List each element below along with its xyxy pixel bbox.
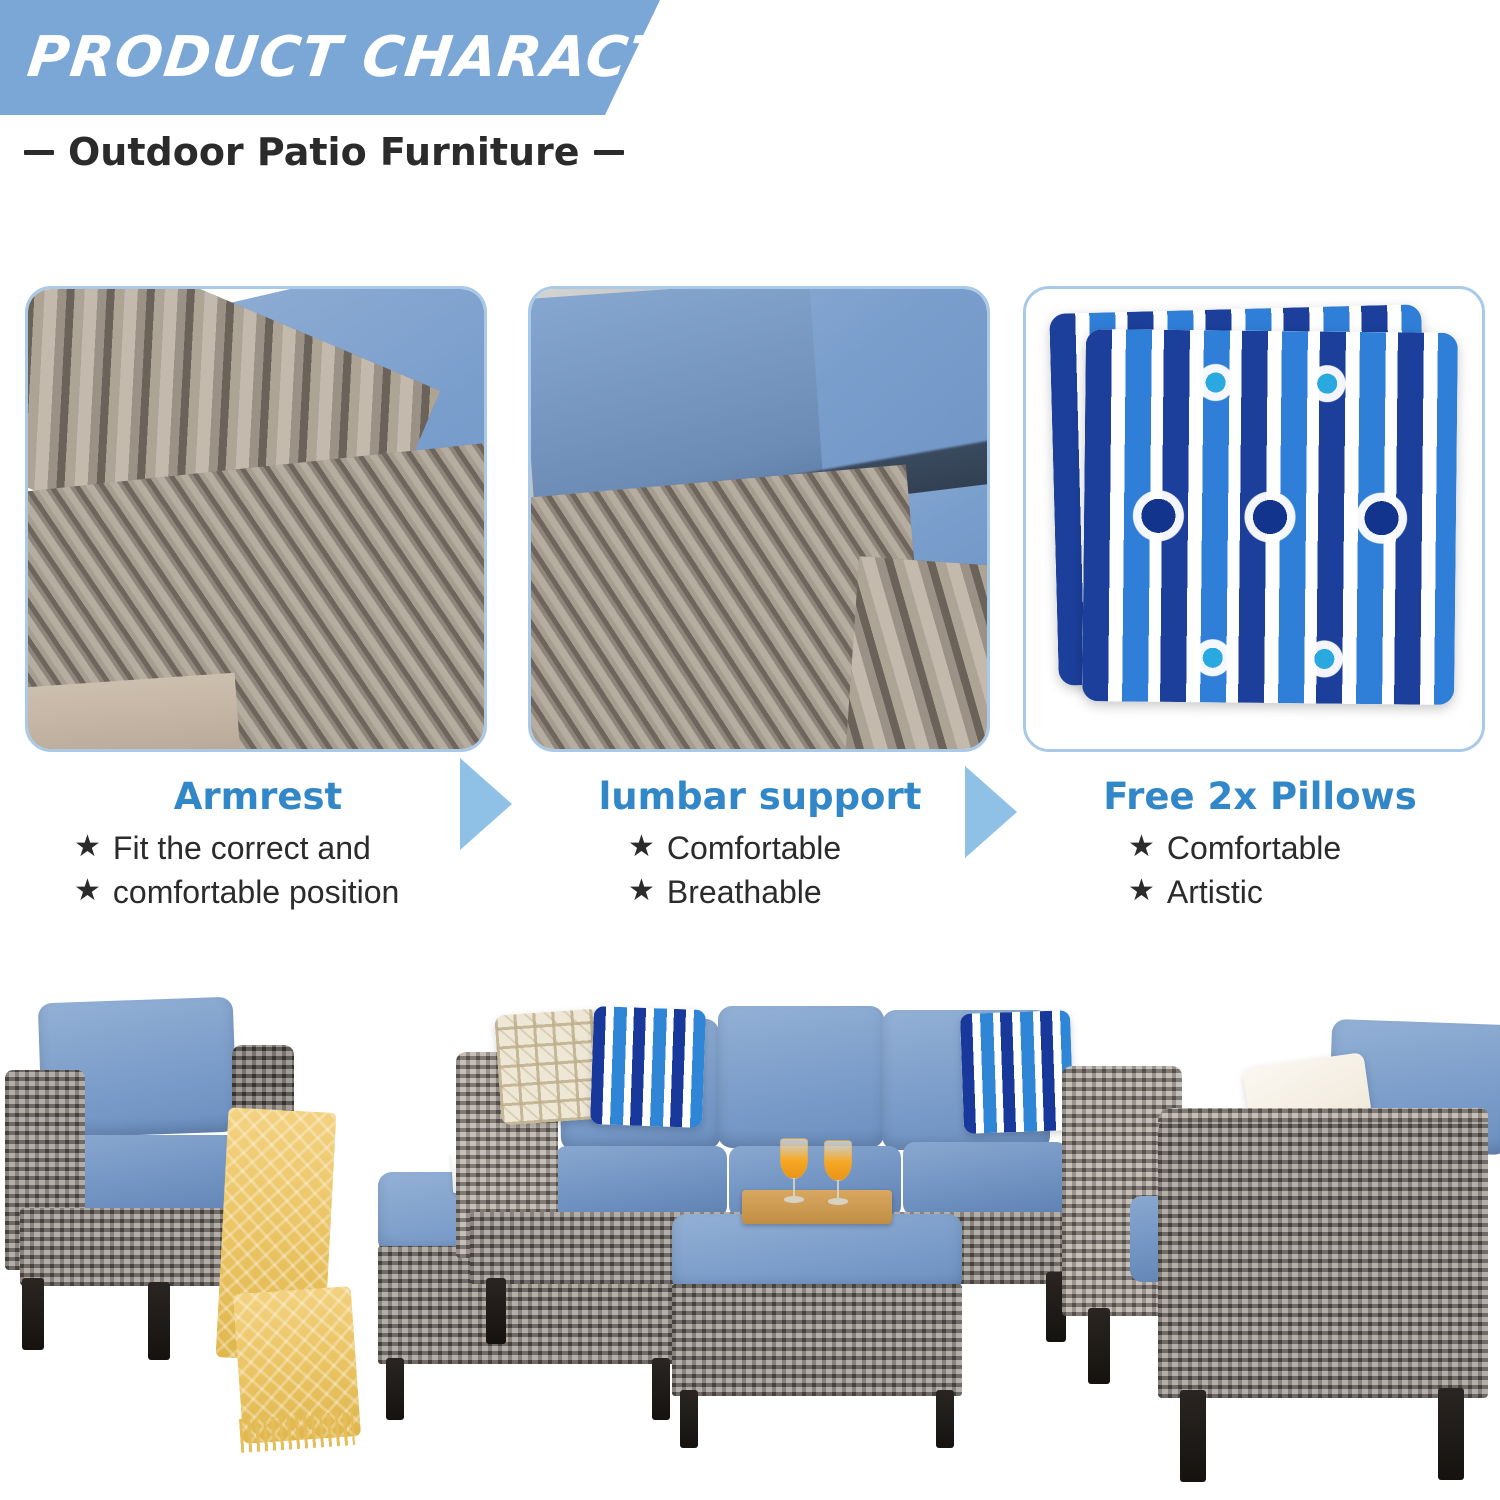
list-item: ★ Comfortable bbox=[628, 829, 1000, 867]
ikat-pattern bbox=[960, 1010, 1074, 1134]
sofa-seat-cushion-left bbox=[555, 1146, 727, 1218]
caption-title-free-pillows: Free 2x Pillows bbox=[1020, 778, 1500, 817]
bullet-list-lumbar-support: ★ Comfortable ★ Breathable bbox=[520, 829, 1000, 912]
list-item: ★ Fit the correct and bbox=[74, 829, 498, 867]
product-infographic-page: PRODUCT CHARACTER Outdoor Patio Furnitur… bbox=[0, 0, 1500, 1500]
list-item: ★ Breathable bbox=[628, 873, 1000, 911]
juice-glass-left bbox=[780, 1138, 808, 1204]
ikat-pillow-right bbox=[960, 1010, 1074, 1134]
right-ottoman-leg-right bbox=[936, 1390, 954, 1448]
bullet-text: Comfortable bbox=[667, 829, 841, 867]
star-icon: ★ bbox=[1128, 829, 1155, 866]
left-armchair-leg-front-right bbox=[148, 1282, 170, 1360]
caption-title-armrest: Armrest bbox=[18, 778, 498, 817]
right-ottoman-leg-left bbox=[680, 1390, 698, 1448]
lumbar-support-photo bbox=[531, 289, 987, 749]
right-ottoman-frame bbox=[672, 1284, 962, 1396]
feature-panels bbox=[0, 286, 1500, 756]
bullet-text: Comfortable bbox=[1167, 829, 1341, 867]
caption-free-pillows: Free 2x Pillows ★ Comfortable ★ Artistic bbox=[1020, 778, 1500, 912]
right-armchair-arm-rim bbox=[1158, 1108, 1488, 1122]
free-pillows-photo bbox=[1026, 289, 1482, 749]
page-subtitle: Outdoor Patio Furniture bbox=[68, 130, 580, 174]
right-armchair-near-arm bbox=[1158, 1108, 1488, 1398]
bullet-text: Artistic bbox=[1167, 873, 1263, 911]
feature-panel-lumbar-support bbox=[528, 286, 990, 752]
sofa-back-cushion-mid bbox=[718, 1006, 884, 1148]
ikat-pillow-front bbox=[1082, 329, 1458, 705]
glass-foot bbox=[784, 1196, 804, 1203]
glass-bowl bbox=[824, 1140, 852, 1181]
list-item: ★ comfortable position bbox=[74, 873, 498, 911]
throw-fringe bbox=[239, 1411, 355, 1453]
dash-left-icon bbox=[24, 150, 54, 155]
wooden-tray bbox=[742, 1190, 892, 1224]
left-ottoman-leg-left bbox=[386, 1358, 404, 1420]
star-icon: ★ bbox=[628, 873, 655, 910]
subtitle-row: Outdoor Patio Furniture bbox=[24, 130, 624, 174]
feature-panel-free-pillows bbox=[1023, 286, 1485, 752]
patio-furniture-set-photo bbox=[0, 960, 1500, 1500]
caption-title-lumbar-support: lumbar support bbox=[520, 778, 1000, 817]
list-item: ★ Comfortable bbox=[1128, 829, 1500, 867]
feature-panel-armrest bbox=[25, 286, 487, 752]
feature-captions: Armrest ★ Fit the correct and ★ comforta… bbox=[0, 778, 1500, 938]
star-icon: ★ bbox=[628, 829, 655, 866]
glass-stem bbox=[837, 1180, 839, 1198]
juice-glass-right bbox=[824, 1140, 852, 1206]
star-icon: ★ bbox=[1128, 873, 1155, 910]
left-armchair-leg-front-left bbox=[22, 1278, 44, 1350]
bullet-text: Fit the correct and bbox=[113, 829, 371, 867]
ikat-diamond-motifs bbox=[1082, 329, 1458, 705]
lumbar-wicker-armrest bbox=[843, 556, 987, 749]
bullet-text: Breathable bbox=[667, 873, 822, 911]
caption-lumbar-support: lumbar support ★ Comfortable ★ Breathabl… bbox=[520, 778, 1000, 912]
bullet-list-free-pillows: ★ Comfortable ★ Artistic bbox=[1020, 829, 1500, 912]
sofa-leg-left bbox=[486, 1278, 506, 1344]
glass-foot bbox=[828, 1198, 848, 1205]
right-armchair-leg-front-left bbox=[1180, 1390, 1206, 1482]
geometric-pillow bbox=[494, 1009, 605, 1126]
header-banner: PRODUCT CHARACTER bbox=[0, 0, 660, 115]
right-ottoman-cushion bbox=[672, 1214, 962, 1292]
armrest-floor bbox=[28, 673, 241, 749]
right-armchair-leg-front-right bbox=[1438, 1388, 1464, 1480]
glass-bowl bbox=[780, 1138, 808, 1179]
right-armchair-leg-far bbox=[1088, 1308, 1110, 1384]
bullet-text: comfortable position bbox=[113, 873, 399, 911]
page-title: PRODUCT CHARACTER bbox=[0, 25, 757, 90]
list-item: ★ Artistic bbox=[1128, 873, 1500, 911]
bullet-list-armrest: ★ Fit the correct and ★ comfortable posi… bbox=[18, 829, 498, 912]
armrest-photo bbox=[28, 289, 484, 749]
star-icon: ★ bbox=[74, 873, 101, 910]
dash-right-icon bbox=[594, 150, 624, 155]
sofa-seat-cushion-right bbox=[903, 1142, 1068, 1216]
geometric-pattern bbox=[494, 1009, 605, 1126]
left-ottoman-leg-right bbox=[652, 1358, 670, 1420]
ikat-pillow-left bbox=[590, 1006, 706, 1128]
star-icon: ★ bbox=[74, 829, 101, 866]
caption-armrest: Armrest ★ Fit the correct and ★ comforta… bbox=[18, 778, 498, 912]
glass-stem bbox=[793, 1178, 795, 1196]
ikat-pattern bbox=[590, 1006, 706, 1128]
